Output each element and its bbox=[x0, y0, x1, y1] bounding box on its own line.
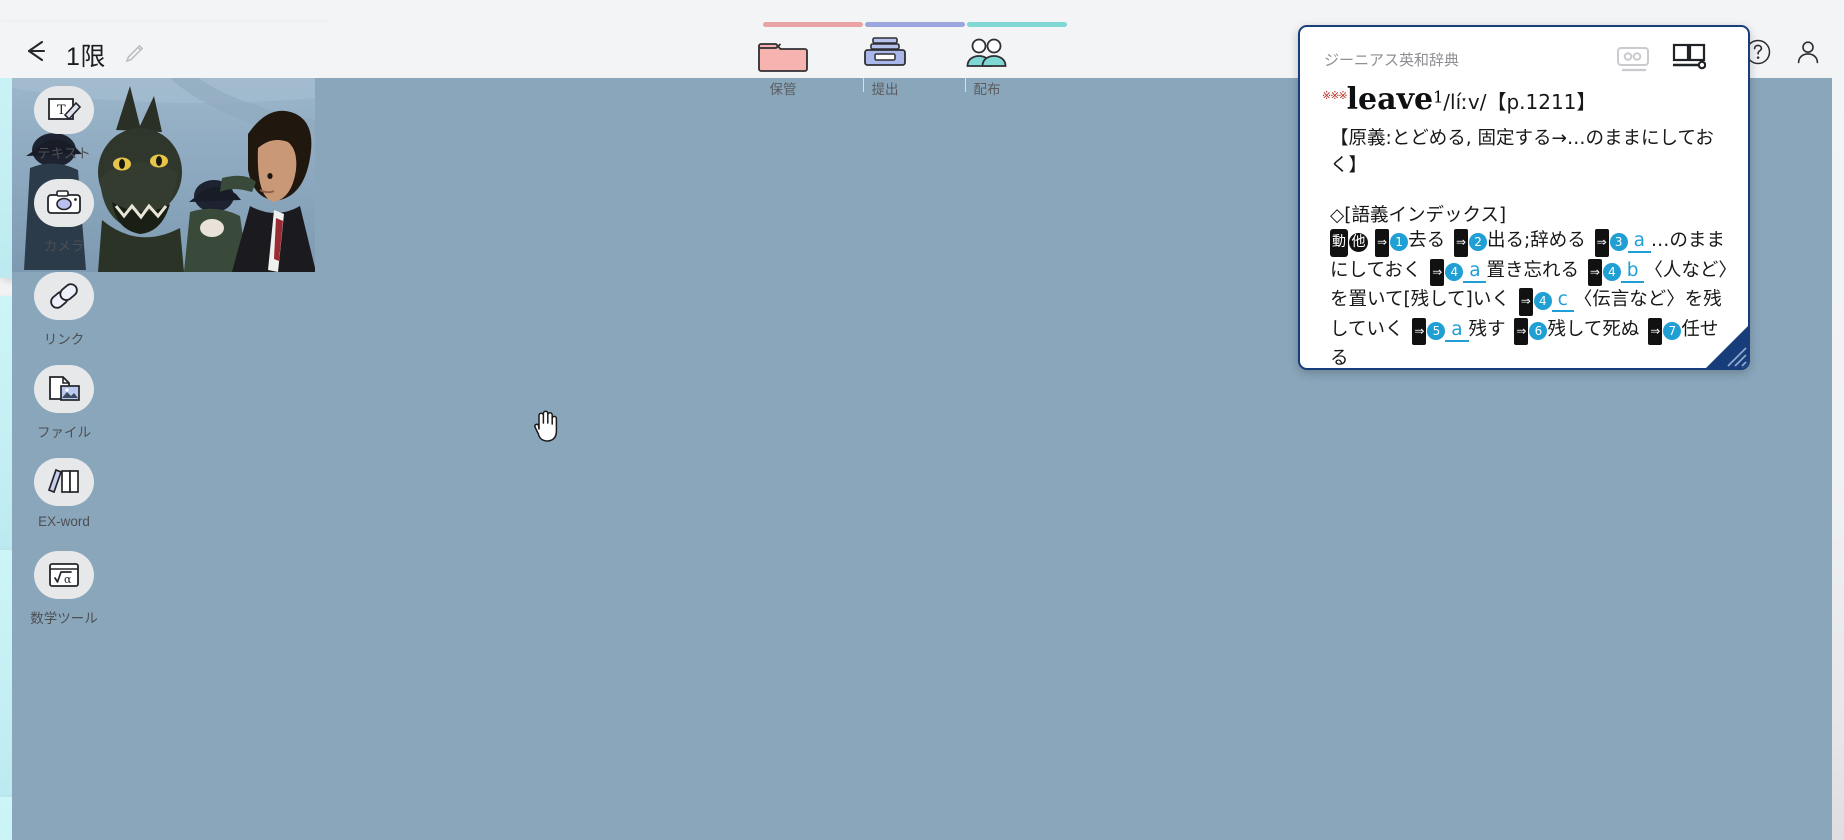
sidebar-item-file[interactable]: ファイル bbox=[0, 357, 128, 450]
account-button[interactable] bbox=[1794, 38, 1822, 71]
toolbar-item-haifu[interactable]: 配布 bbox=[944, 34, 1030, 98]
sidebar-item-exword[interactable]: EX-word bbox=[0, 450, 128, 543]
arrow-badge: ⇒ bbox=[1588, 259, 1602, 287]
sense-index-body: 動他⇒1去る ⇒2出る;辞める ⇒3 a …のままにしておく ⇒4 a 置き忘れ… bbox=[1300, 227, 1748, 370]
pencil-icon bbox=[124, 42, 146, 64]
sense-text: 残して死ぬ bbox=[1547, 319, 1645, 340]
sidebar-item-link[interactable]: リンク bbox=[0, 264, 128, 357]
back-button[interactable] bbox=[16, 36, 56, 66]
pos-badge-verb: 動 bbox=[1330, 229, 1348, 257]
edit-title-button[interactable] bbox=[124, 42, 146, 64]
arrow-left-icon bbox=[16, 36, 56, 66]
sense-number: 3 bbox=[1610, 233, 1628, 251]
sense-subletter: a bbox=[1628, 230, 1651, 253]
sense-number: 5 bbox=[1427, 322, 1445, 340]
dictionary-origin: 【原義:とどめる, 固定する→…のままにしておく】 bbox=[1300, 123, 1748, 179]
sidebar-item-text[interactable]: T テキスト bbox=[0, 78, 128, 171]
toolbar-label-hokan: 保管 bbox=[740, 78, 826, 98]
exword-icon bbox=[34, 458, 94, 506]
tab-strip-hokan bbox=[763, 22, 863, 27]
sidebar-label-math: 数学ツール bbox=[30, 607, 98, 627]
sense-text: 去る bbox=[1408, 230, 1451, 251]
math-icon: α bbox=[34, 551, 94, 599]
sidebar-label-link: リンク bbox=[44, 328, 85, 348]
arrow-badge: ⇒ bbox=[1412, 318, 1426, 346]
page-title: 1限 bbox=[66, 37, 106, 73]
sense-subletter: c bbox=[1552, 289, 1574, 312]
stamp-icon[interactable] bbox=[1616, 45, 1650, 80]
arrow-badge: ⇒ bbox=[1648, 318, 1662, 346]
file-icon bbox=[34, 365, 94, 413]
sense-entry-list: ⇒1去る ⇒2出る;辞める ⇒3 a …のままにしておく ⇒4 a 置き忘れる … bbox=[1330, 230, 1728, 369]
arrow-badge: ⇒ bbox=[1375, 229, 1389, 257]
pos-badge-transitive: 他 bbox=[1349, 233, 1368, 252]
homograph-number: 1 bbox=[1433, 88, 1443, 107]
sense-number: 7 bbox=[1663, 322, 1681, 340]
dictionary-headword: leave bbox=[1347, 82, 1433, 117]
folder-icon bbox=[740, 34, 826, 76]
sense-number: 4 bbox=[1534, 292, 1552, 310]
arrow-badge: ⇒ bbox=[1595, 229, 1609, 257]
camera-icon bbox=[34, 179, 94, 227]
asterisk-marks: ※※※ bbox=[1322, 90, 1347, 102]
arrow-badge: ⇒ bbox=[1519, 288, 1533, 316]
book-icon[interactable] bbox=[1672, 43, 1706, 80]
sidebar-label-text: テキスト bbox=[37, 142, 91, 162]
sense-text: 出る;辞める bbox=[1487, 230, 1592, 251]
link-icon bbox=[34, 272, 94, 320]
user-icon bbox=[1794, 38, 1822, 66]
arrow-badge: ⇒ bbox=[1454, 229, 1468, 257]
sense-subletter: b bbox=[1621, 260, 1645, 283]
sidebar-label-file: ファイル bbox=[37, 421, 91, 441]
sense-number: 1 bbox=[1390, 233, 1408, 251]
sense-number: 2 bbox=[1469, 233, 1487, 251]
text-icon: T bbox=[34, 86, 94, 134]
toolbar-item-hokan[interactable]: 保管 bbox=[740, 34, 826, 98]
sense-index-label: ◇[語義インデックス] bbox=[1300, 179, 1748, 227]
toolbar-label-haifu: 配布 bbox=[944, 78, 1030, 98]
sense-number: 6 bbox=[1529, 322, 1547, 340]
sense-number: 4 bbox=[1603, 263, 1621, 281]
sense-number: 4 bbox=[1445, 263, 1463, 281]
people-icon bbox=[944, 34, 1030, 76]
sense-text: 置き忘れる bbox=[1486, 260, 1584, 281]
dictionary-popup-panel[interactable]: ジーニアス英和辞典 ※※※leave1/líːv/【p.1211】 【原義:とど… bbox=[1298, 25, 1750, 370]
sense-text: 残す bbox=[1469, 319, 1512, 340]
tab-strip-teishutsu bbox=[865, 22, 965, 27]
sidebar-label-camera: カメラ bbox=[44, 235, 85, 255]
toolbar-item-teishutsu[interactable]: 提出 bbox=[842, 34, 928, 98]
tab-strip-haifu bbox=[967, 22, 1067, 27]
toolbar-label-teishutsu: 提出 bbox=[842, 78, 928, 98]
left-sidebar: T テキスト カメラ リンク bbox=[0, 78, 128, 840]
resize-handle[interactable] bbox=[1706, 326, 1748, 368]
sidebar-item-camera[interactable]: カメラ bbox=[0, 171, 128, 264]
sidebar-label-exword: EX-word bbox=[38, 514, 90, 529]
sense-subletter: a bbox=[1445, 319, 1468, 342]
svg-text:α: α bbox=[64, 573, 72, 586]
dictionary-ipa: /líːv/【p.1211】 bbox=[1443, 90, 1596, 114]
sense-subletter: a bbox=[1463, 260, 1486, 283]
printer-icon bbox=[842, 34, 928, 76]
arrow-badge: ⇒ bbox=[1430, 259, 1444, 287]
arrow-badge: ⇒ bbox=[1514, 318, 1528, 346]
sidebar-item-math[interactable]: α 数学ツール bbox=[0, 543, 128, 636]
